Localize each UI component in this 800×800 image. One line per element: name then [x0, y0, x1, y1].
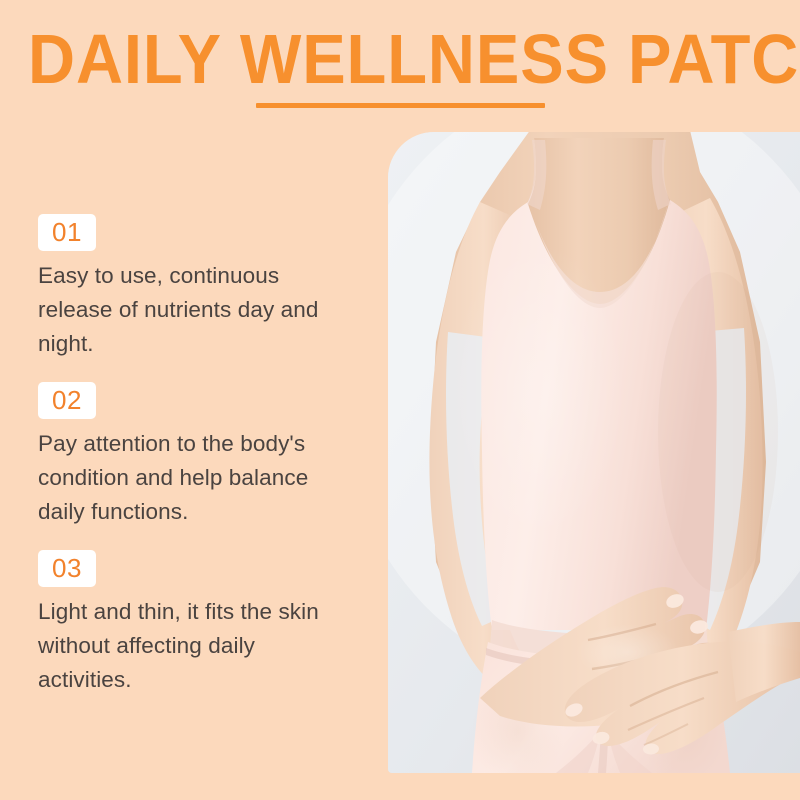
photo-illustration	[388, 132, 800, 773]
feature-number-badge: 01	[38, 214, 96, 251]
feature-number-badge: 03	[38, 550, 96, 587]
poster-canvas: DAILY WELLNESS PATCHES 01 Easy to use, c…	[0, 0, 800, 800]
title-block: DAILY WELLNESS PATCHES	[0, 22, 800, 96]
list-item: 03 Light and thin, it fits the skin with…	[38, 550, 358, 697]
title-underline	[256, 103, 545, 108]
list-item: 01 Easy to use, continuous release of nu…	[38, 214, 358, 361]
feature-description: Light and thin, it fits the skin without…	[38, 595, 338, 697]
feature-description: Pay attention to the body's condition an…	[38, 427, 338, 529]
feature-description: Easy to use, continuous release of nutri…	[38, 259, 338, 361]
list-item: 02 Pay attention to the body's condition…	[38, 382, 358, 529]
feature-list: 01 Easy to use, continuous release of nu…	[38, 214, 358, 717]
page-title: DAILY WELLNESS PATCHES	[28, 22, 772, 96]
feature-number-badge: 02	[38, 382, 96, 419]
product-photo	[388, 132, 800, 773]
